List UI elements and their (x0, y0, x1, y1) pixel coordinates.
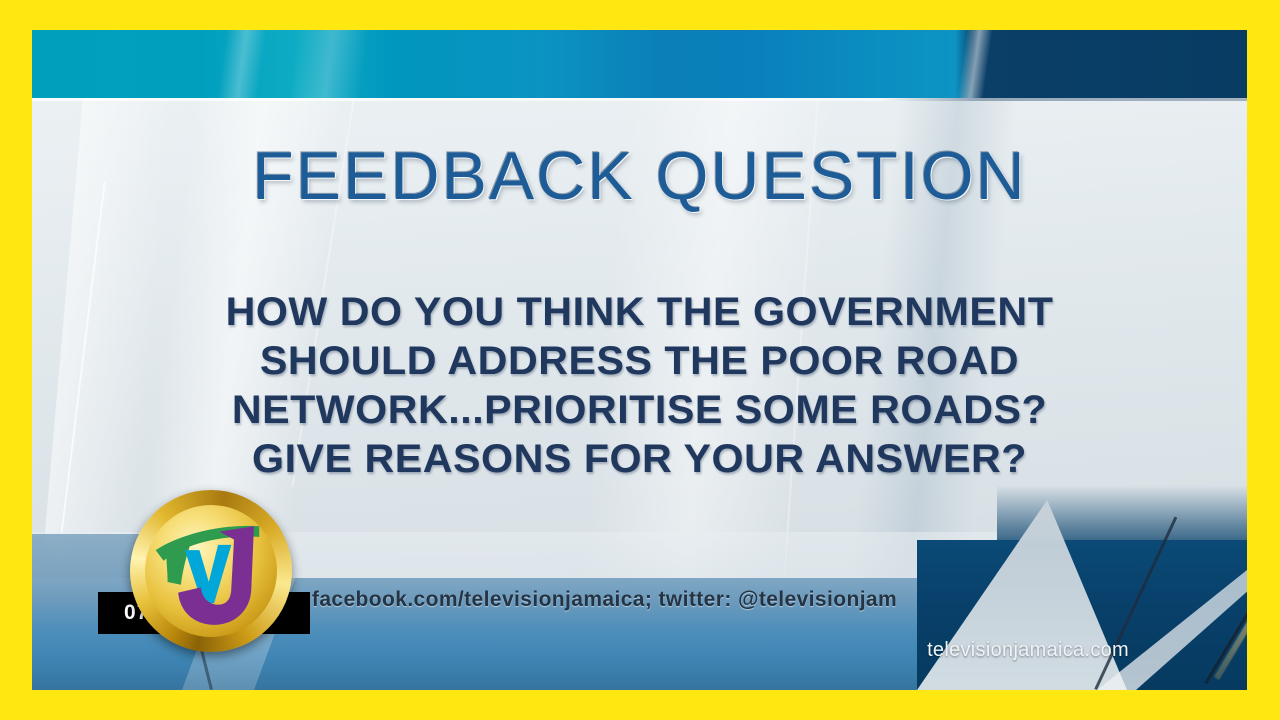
tvj-letters-icon (145, 505, 278, 638)
website-url: televisionjamaica.com (927, 639, 1129, 662)
banner-light-streak (954, 30, 995, 98)
question-line: GIVE REASONS FOR YOUR ANSWER? (32, 435, 1247, 484)
logo-gold-face (145, 505, 278, 638)
graphic-stage: FEEDBACK QUESTION HOW DO YOU THINK THE G… (32, 30, 1247, 690)
banner-underline (32, 98, 1247, 101)
banner-light-streak (286, 30, 371, 98)
question-line: HOW DO YOU THINK THE GOVERNMENT (32, 288, 1247, 337)
question-block: HOW DO YOU THINK THE GOVERNMENT SHOULD A… (32, 288, 1247, 484)
broadcast-yellow-frame: FEEDBACK QUESTION HOW DO YOU THINK THE G… (0, 0, 1280, 720)
logo-letters (145, 505, 278, 638)
top-banner (32, 30, 1247, 98)
banner-light-streak (214, 30, 269, 98)
question-line: NETWORK...PRIORITISE SOME ROADS? (32, 386, 1247, 435)
question-line: SHOULD ADDRESS THE POOR ROAD (32, 337, 1247, 386)
title-row: FEEDBACK QUESTION (32, 142, 1247, 210)
page-title: FEEDBACK QUESTION (252, 142, 1027, 210)
tvj-logo (130, 490, 292, 652)
